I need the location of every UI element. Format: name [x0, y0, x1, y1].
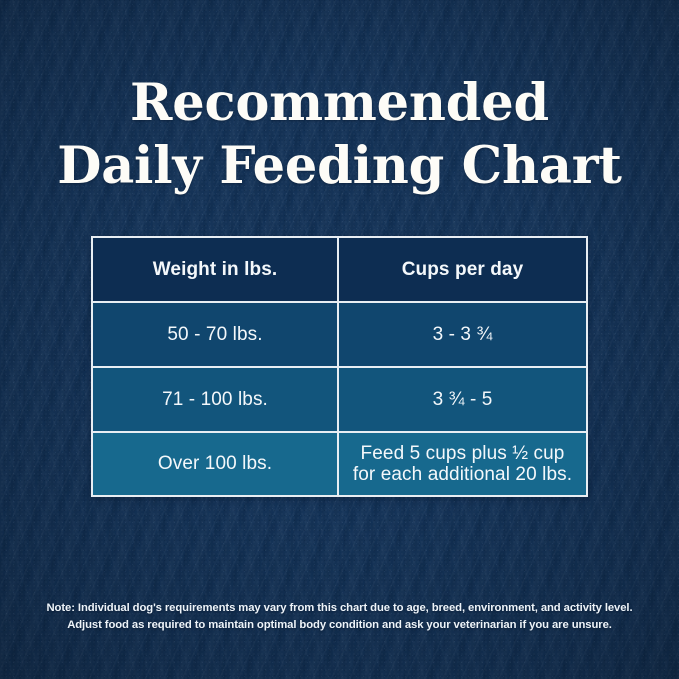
cell-cups-per-day: 3 ¾ - 5 — [339, 368, 586, 431]
table-row: 71 - 100 lbs. 3 ¾ - 5 — [93, 366, 586, 431]
footnote-line-1: Note: Individual dog's requirements may … — [0, 600, 679, 617]
page-title: Recommended Daily Feeding Chart — [0, 72, 679, 198]
footnote: Note: Individual dog's requirements may … — [0, 600, 679, 634]
feeding-chart-graphic: Recommended Daily Feeding Chart Weight i… — [0, 0, 679, 679]
column-header-cups: Cups per day — [339, 238, 586, 301]
cell-weight-range: Over 100 lbs. — [93, 433, 339, 495]
title-line-2: Daily Feeding Chart — [0, 135, 679, 198]
column-header-weight: Weight in lbs. — [93, 238, 339, 301]
title-line-1: Recommended — [0, 72, 679, 135]
table-header-row: Weight in lbs. Cups per day — [93, 238, 586, 301]
cell-weight-range: 71 - 100 lbs. — [93, 368, 339, 431]
table-row: 50 - 70 lbs. 3 - 3 ¾ — [93, 301, 586, 366]
cell-cups-per-day: 3 - 3 ¾ — [339, 303, 586, 366]
feeding-table: Weight in lbs. Cups per day 50 - 70 lbs.… — [91, 236, 588, 497]
table-row: Over 100 lbs. Feed 5 cups plus ½ cup for… — [93, 431, 586, 495]
cell-cups-per-day: Feed 5 cups plus ½ cup for each addition… — [339, 433, 586, 495]
cell-weight-range: 50 - 70 lbs. — [93, 303, 339, 366]
footnote-line-2: Adjust food as required to maintain opti… — [0, 617, 679, 634]
